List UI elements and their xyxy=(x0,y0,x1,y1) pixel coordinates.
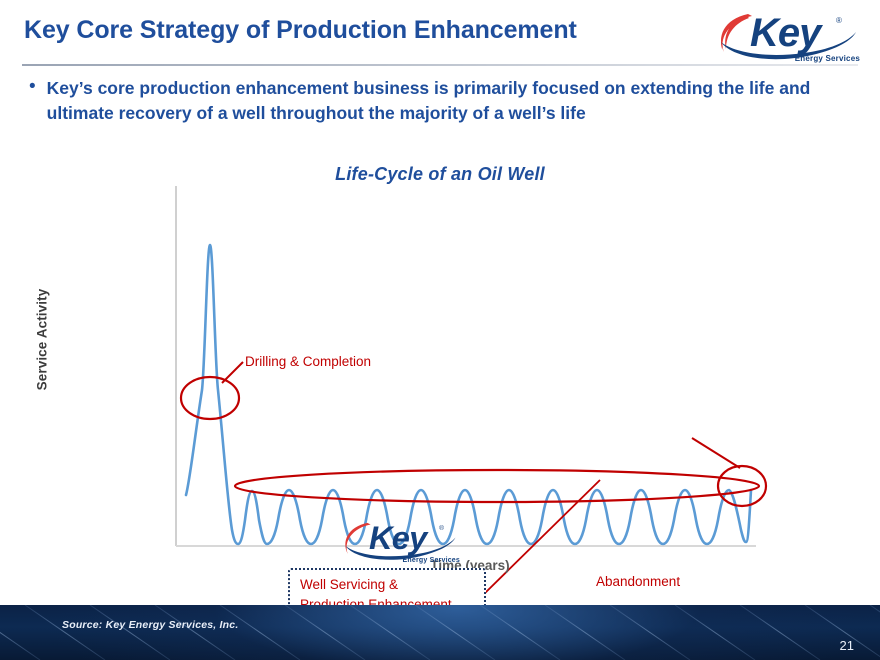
page-title: Key Core Strategy of Production Enhancem… xyxy=(24,16,577,45)
annotation-drilling-label: Drilling & Completion xyxy=(245,354,371,369)
svg-text:®: ® xyxy=(439,524,444,532)
svg-text:Key: Key xyxy=(369,519,429,556)
bullet-marker: • xyxy=(29,76,36,98)
logo-tagline: Energy Services xyxy=(795,54,860,63)
annotation-drilling-shape xyxy=(181,362,243,419)
annotation-abandonment-label: Abandonment xyxy=(596,574,680,589)
callout-line-1: Well Servicing & xyxy=(300,575,452,595)
bullet-block: • Key’s core production enhancement busi… xyxy=(26,76,856,126)
well-servicing-ellipse xyxy=(235,470,759,502)
slide-header: Key Core Strategy of Production Enhancem… xyxy=(0,0,880,70)
life-cycle-chart: Life-Cycle of an Oil Well Service Activi… xyxy=(0,150,880,595)
key-energy-services-logo: Key ® Energy Services xyxy=(712,6,864,64)
footer-source-text: Source: Key Energy Services, Inc. xyxy=(62,619,238,631)
chart-logo-tagline: Energy Services xyxy=(403,557,460,564)
footer-grid-decoration xyxy=(0,605,880,660)
abandonment-leader-line xyxy=(692,438,740,468)
drilling-leader-line xyxy=(222,362,243,383)
chart-key-energy-services-logo: Key ® Energy Services xyxy=(338,514,462,566)
header-divider xyxy=(22,64,858,66)
y-axis-label: Service Activity xyxy=(35,270,50,410)
footer-page-number: 21 xyxy=(840,638,854,653)
drilling-ellipse xyxy=(181,377,239,419)
slide-footer: Source: Key Energy Services, Inc. 21 xyxy=(0,605,880,660)
svg-text:Key: Key xyxy=(750,11,823,55)
bullet-list-item: • Key’s core production enhancement busi… xyxy=(26,76,856,126)
svg-text:®: ® xyxy=(836,16,842,25)
bullet-text: Key’s core production enhancement busine… xyxy=(47,76,837,126)
